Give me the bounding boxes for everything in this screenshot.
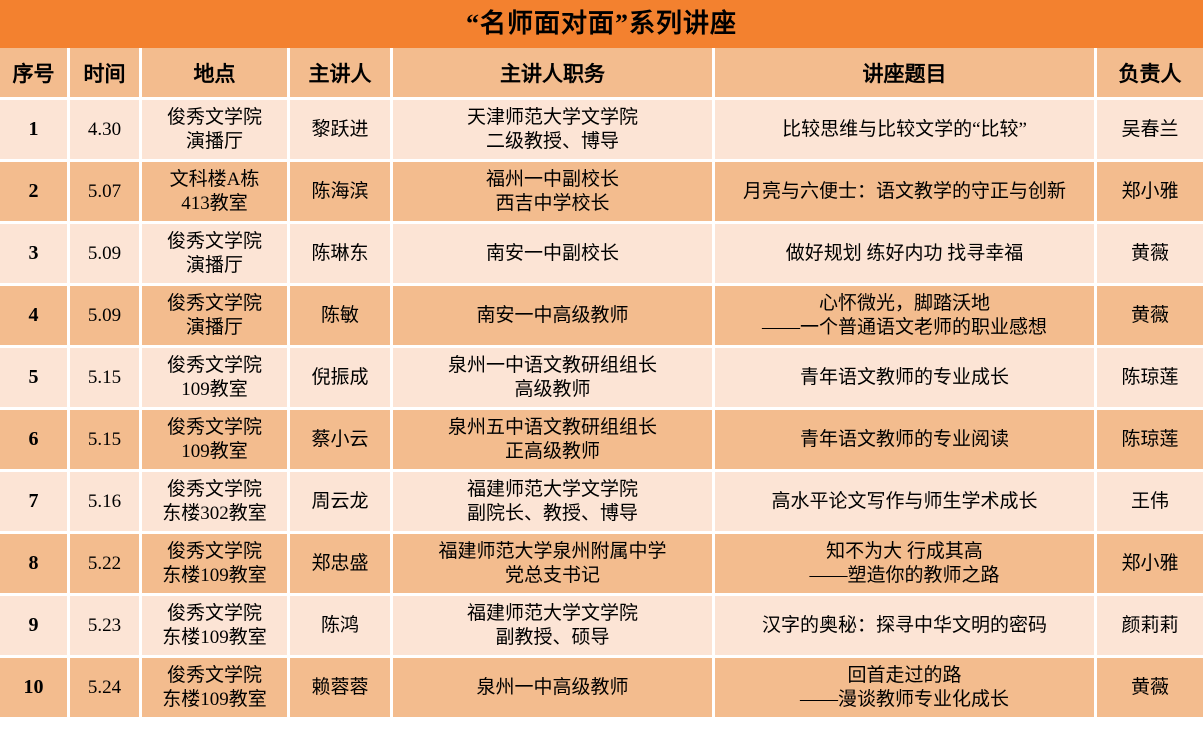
cell-speaker-line: 陈鸿	[293, 614, 387, 637]
cell-no-line: 1	[3, 117, 64, 141]
cell-role-line: 福州一中副校长	[396, 168, 709, 191]
cell-place: 俊秀文学院109教室	[142, 410, 290, 472]
cell-role-line: 副院长、教授、博导	[396, 502, 709, 525]
title-banner: “名师面对面”系列讲座	[0, 0, 1203, 48]
cell-place-line: 俊秀文学院	[145, 602, 284, 625]
cell-topic-line: 知不为大 行成其高	[718, 540, 1091, 563]
cell-place: 俊秀文学院东楼109教室	[142, 596, 290, 658]
cell-owner-line: 陈琼莲	[1100, 428, 1200, 451]
cell-owner-line: 黄薇	[1100, 242, 1200, 265]
column-header-no: 序号	[0, 48, 70, 100]
cell-owner-line: 吴春兰	[1100, 118, 1200, 141]
cell-speaker: 黎跃进	[290, 100, 393, 162]
cell-place: 俊秀文学院东楼109教室	[142, 658, 290, 720]
cell-speaker: 陈鸿	[290, 596, 393, 658]
cell-place: 文科楼A栋413教室	[142, 162, 290, 224]
cell-topic: 做好规划 练好内功 找寻幸福	[715, 224, 1097, 286]
cell-place-line: 俊秀文学院	[145, 478, 284, 501]
cell-role-line: 南安一中高级教师	[396, 304, 709, 327]
cell-topic-line: 高水平论文写作与师生学术成长	[718, 490, 1091, 513]
header-row: 序号 时间 地点 主讲人 主讲人职务 讲座题目 负责人	[0, 48, 1203, 100]
cell-time: 4.30	[70, 100, 142, 162]
cell-time-line: 5.22	[73, 552, 136, 575]
cell-speaker: 陈琳东	[290, 224, 393, 286]
cell-place-line: 109教室	[145, 440, 284, 463]
cell-owner-line: 黄薇	[1100, 676, 1200, 699]
cell-no: 4	[0, 286, 70, 348]
cell-role: 福建师范大学文学院副教授、硕导	[393, 596, 715, 658]
cell-no-line: 10	[3, 675, 64, 699]
column-header-speaker: 主讲人	[290, 48, 393, 100]
column-header-topic: 讲座题目	[715, 48, 1097, 100]
cell-place: 俊秀文学院109教室	[142, 348, 290, 410]
cell-owner: 郑小雅	[1097, 534, 1203, 596]
cell-no-line: 9	[3, 613, 64, 637]
cell-role-line: 南安一中副校长	[396, 242, 709, 265]
column-header-owner: 负责人	[1097, 48, 1203, 100]
cell-place-line: 演播厅	[145, 254, 284, 277]
cell-time-line: 5.24	[73, 676, 136, 699]
cell-role-line: 党总支书记	[396, 564, 709, 587]
lecture-schedule-table: 序号 时间 地点 主讲人 主讲人职务 讲座题目 负责人 14.30俊秀文学院演播…	[0, 48, 1203, 720]
cell-time: 5.16	[70, 472, 142, 534]
cell-topic-line: 心怀微光，脚踏沃地	[718, 292, 1091, 315]
cell-place: 俊秀文学院演播厅	[142, 286, 290, 348]
lecture-schedule-sheet: “名师面对面”系列讲座 序号 时间 地点 主讲人 主讲人职务 讲座题目 负责人 …	[0, 0, 1203, 736]
cell-place-line: 413教室	[145, 192, 284, 215]
cell-owner-line: 陈琼莲	[1100, 366, 1200, 389]
cell-topic-line: 青年语文教师的专业成长	[718, 366, 1091, 389]
cell-speaker-line: 陈琳东	[293, 242, 387, 265]
cell-place-line: 演播厅	[145, 316, 284, 339]
cell-topic: 心怀微光，脚踏沃地——一个普通语文老师的职业感想	[715, 286, 1097, 348]
cell-place-line: 俊秀文学院	[145, 230, 284, 253]
cell-no: 5	[0, 348, 70, 410]
cell-role: 南安一中副校长	[393, 224, 715, 286]
cell-time: 5.09	[70, 286, 142, 348]
cell-topic-line: 做好规划 练好内功 找寻幸福	[718, 242, 1091, 265]
cell-owner-line: 郑小雅	[1100, 180, 1200, 203]
cell-topic: 知不为大 行成其高——塑造你的教师之路	[715, 534, 1097, 596]
cell-no: 8	[0, 534, 70, 596]
cell-owner-line: 王伟	[1100, 490, 1200, 513]
cell-topic: 回首走过的路——漫谈教师专业化成长	[715, 658, 1097, 720]
cell-no: 2	[0, 162, 70, 224]
cell-no-line: 2	[3, 179, 64, 203]
cell-speaker-line: 陈海滨	[293, 180, 387, 203]
cell-owner: 郑小雅	[1097, 162, 1203, 224]
cell-topic-line: ——漫谈教师专业化成长	[718, 688, 1091, 711]
cell-time-line: 4.30	[73, 118, 136, 141]
cell-topic-line: 比较思维与比较文学的“比较”	[718, 118, 1091, 141]
cell-no: 3	[0, 224, 70, 286]
cell-place-line: 俊秀文学院	[145, 106, 284, 129]
cell-role-line: 副教授、硕导	[396, 626, 709, 649]
cell-no: 6	[0, 410, 70, 472]
cell-role-line: 正高级教师	[396, 440, 709, 463]
cell-speaker: 郑忠盛	[290, 534, 393, 596]
cell-role: 天津师范大学文学院二级教授、博导	[393, 100, 715, 162]
cell-role-line: 西吉中学校长	[396, 192, 709, 215]
cell-time-line: 5.23	[73, 614, 136, 637]
cell-role: 泉州一中语文教研组组长高级教师	[393, 348, 715, 410]
cell-role-line: 泉州一中高级教师	[396, 676, 709, 699]
cell-role-line: 福建师范大学文学院	[396, 602, 709, 625]
cell-no-line: 7	[3, 489, 64, 513]
column-header-time: 时间	[70, 48, 142, 100]
cell-speaker-line: 赖蓉蓉	[293, 676, 387, 699]
cell-role-line: 天津师范大学文学院	[396, 106, 709, 129]
cell-role-line: 泉州一中语文教研组组长	[396, 354, 709, 377]
cell-time: 5.15	[70, 348, 142, 410]
cell-place-line: 俊秀文学院	[145, 354, 284, 377]
page-title: “名师面对面”系列讲座	[466, 11, 737, 37]
cell-place: 俊秀文学院东楼302教室	[142, 472, 290, 534]
cell-topic-line: 回首走过的路	[718, 664, 1091, 687]
cell-no: 7	[0, 472, 70, 534]
cell-time: 5.23	[70, 596, 142, 658]
cell-owner: 黄薇	[1097, 658, 1203, 720]
cell-owner-line: 黄薇	[1100, 304, 1200, 327]
cell-place-line: 文科楼A栋	[145, 168, 284, 191]
cell-speaker-line: 陈敏	[293, 304, 387, 327]
cell-topic-line: ——塑造你的教师之路	[718, 564, 1091, 587]
cell-time: 5.15	[70, 410, 142, 472]
cell-place-line: 俊秀文学院	[145, 292, 284, 315]
cell-no-line: 6	[3, 427, 64, 451]
cell-topic-line: ——一个普通语文老师的职业感想	[718, 316, 1091, 339]
cell-owner: 陈琼莲	[1097, 410, 1203, 472]
column-header-role: 主讲人职务	[393, 48, 715, 100]
table-row: 95.23俊秀文学院东楼109教室陈鸿福建师范大学文学院副教授、硕导汉字的奥秘：…	[0, 596, 1203, 658]
cell-owner: 王伟	[1097, 472, 1203, 534]
cell-speaker: 蔡小云	[290, 410, 393, 472]
cell-topic: 比较思维与比较文学的“比较”	[715, 100, 1097, 162]
cell-no-line: 8	[3, 551, 64, 575]
cell-role: 南安一中高级教师	[393, 286, 715, 348]
cell-role-line: 福建师范大学泉州附属中学	[396, 540, 709, 563]
table-header: 序号 时间 地点 主讲人 主讲人职务 讲座题目 负责人	[0, 48, 1203, 100]
cell-owner: 颜莉莉	[1097, 596, 1203, 658]
cell-owner: 吴春兰	[1097, 100, 1203, 162]
cell-time: 5.24	[70, 658, 142, 720]
cell-role-line: 高级教师	[396, 378, 709, 401]
cell-place-line: 东楼109教室	[145, 688, 284, 711]
cell-speaker-line: 倪振成	[293, 366, 387, 389]
cell-time-line: 5.09	[73, 242, 136, 265]
cell-place-line: 东楼109教室	[145, 626, 284, 649]
cell-owner: 黄薇	[1097, 286, 1203, 348]
cell-place-line: 俊秀文学院	[145, 416, 284, 439]
table-row: 55.15俊秀文学院109教室倪振成泉州一中语文教研组组长高级教师青年语文教师的…	[0, 348, 1203, 410]
cell-topic: 高水平论文写作与师生学术成长	[715, 472, 1097, 534]
cell-no: 10	[0, 658, 70, 720]
cell-speaker-line: 黎跃进	[293, 118, 387, 141]
cell-time: 5.22	[70, 534, 142, 596]
cell-no-line: 3	[3, 241, 64, 265]
cell-time-line: 5.07	[73, 180, 136, 203]
cell-topic-line: 月亮与六便士：语文教学的守正与创新	[718, 180, 1091, 203]
cell-place-line: 东楼109教室	[145, 564, 284, 587]
cell-role-line: 泉州五中语文教研组组长	[396, 416, 709, 439]
cell-place-line: 俊秀文学院	[145, 540, 284, 563]
table-row: 105.24俊秀文学院东楼109教室赖蓉蓉泉州一中高级教师回首走过的路——漫谈教…	[0, 658, 1203, 720]
cell-speaker-line: 蔡小云	[293, 428, 387, 451]
cell-speaker: 倪振成	[290, 348, 393, 410]
cell-speaker-line: 周云龙	[293, 490, 387, 513]
table-row: 75.16俊秀文学院东楼302教室周云龙福建师范大学文学院副院长、教授、博导高水…	[0, 472, 1203, 534]
cell-owner: 陈琼莲	[1097, 348, 1203, 410]
table-row: 35.09俊秀文学院演播厅陈琳东南安一中副校长做好规划 练好内功 找寻幸福黄薇	[0, 224, 1203, 286]
cell-place: 俊秀文学院演播厅	[142, 100, 290, 162]
cell-no-line: 5	[3, 365, 64, 389]
cell-role-line: 福建师范大学文学院	[396, 478, 709, 501]
cell-topic: 青年语文教师的专业成长	[715, 348, 1097, 410]
column-header-place: 地点	[142, 48, 290, 100]
cell-speaker-line: 郑忠盛	[293, 552, 387, 575]
table-row: 85.22俊秀文学院东楼109教室郑忠盛福建师范大学泉州附属中学党总支书记知不为…	[0, 534, 1203, 596]
cell-speaker: 赖蓉蓉	[290, 658, 393, 720]
cell-place: 俊秀文学院演播厅	[142, 224, 290, 286]
table-body: 14.30俊秀文学院演播厅黎跃进天津师范大学文学院二级教授、博导比较思维与比较文…	[0, 100, 1203, 720]
cell-role: 福建师范大学泉州附属中学党总支书记	[393, 534, 715, 596]
cell-role: 泉州五中语文教研组组长正高级教师	[393, 410, 715, 472]
cell-place: 俊秀文学院东楼109教室	[142, 534, 290, 596]
cell-topic: 月亮与六便士：语文教学的守正与创新	[715, 162, 1097, 224]
cell-topic: 青年语文教师的专业阅读	[715, 410, 1097, 472]
cell-no: 9	[0, 596, 70, 658]
cell-topic-line: 汉字的奥秘：探寻中华文明的密码	[718, 614, 1091, 637]
cell-owner: 黄薇	[1097, 224, 1203, 286]
cell-owner-line: 颜莉莉	[1100, 614, 1200, 637]
cell-time: 5.09	[70, 224, 142, 286]
cell-role: 泉州一中高级教师	[393, 658, 715, 720]
cell-role: 福建师范大学文学院副院长、教授、博导	[393, 472, 715, 534]
cell-topic: 汉字的奥秘：探寻中华文明的密码	[715, 596, 1097, 658]
cell-speaker: 陈敏	[290, 286, 393, 348]
table-row: 65.15俊秀文学院109教室蔡小云泉州五中语文教研组组长正高级教师青年语文教师…	[0, 410, 1203, 472]
table-row: 25.07文科楼A栋413教室陈海滨福州一中副校长西吉中学校长月亮与六便士：语文…	[0, 162, 1203, 224]
cell-time-line: 5.09	[73, 304, 136, 327]
cell-place-line: 东楼302教室	[145, 502, 284, 525]
cell-no-line: 4	[3, 303, 64, 327]
cell-place-line: 俊秀文学院	[145, 664, 284, 687]
table-row: 14.30俊秀文学院演播厅黎跃进天津师范大学文学院二级教授、博导比较思维与比较文…	[0, 100, 1203, 162]
cell-time-line: 5.15	[73, 366, 136, 389]
cell-role: 福州一中副校长西吉中学校长	[393, 162, 715, 224]
cell-time-line: 5.15	[73, 428, 136, 451]
cell-role-line: 二级教授、博导	[396, 130, 709, 153]
cell-topic-line: 青年语文教师的专业阅读	[718, 428, 1091, 451]
cell-place-line: 演播厅	[145, 130, 284, 153]
cell-speaker: 周云龙	[290, 472, 393, 534]
cell-speaker: 陈海滨	[290, 162, 393, 224]
cell-time-line: 5.16	[73, 490, 136, 513]
cell-no: 1	[0, 100, 70, 162]
cell-time: 5.07	[70, 162, 142, 224]
cell-place-line: 109教室	[145, 378, 284, 401]
cell-owner-line: 郑小雅	[1100, 552, 1200, 575]
table-row: 45.09俊秀文学院演播厅陈敏南安一中高级教师心怀微光，脚踏沃地——一个普通语文…	[0, 286, 1203, 348]
